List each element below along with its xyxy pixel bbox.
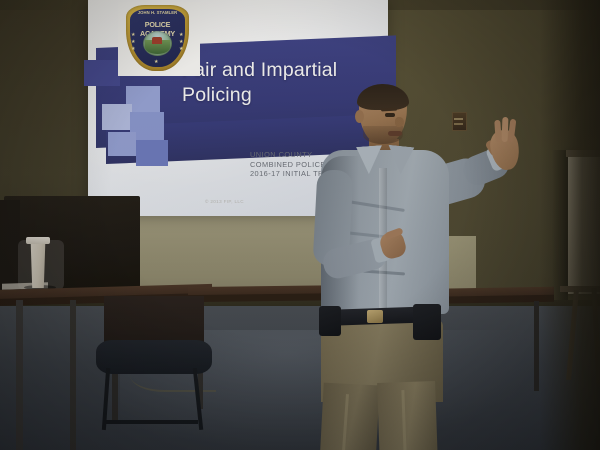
wall-right-falloff — [540, 0, 600, 450]
badge-top-text: JOHN H. STAMLER — [134, 11, 181, 20]
badge-star-icon: ★ — [131, 33, 135, 38]
belt-pouch-left — [319, 306, 341, 336]
chair-rail — [106, 420, 198, 424]
slide-copyright: © 2013 FIP, LLC — [205, 199, 244, 204]
slide-square-mid-2 — [108, 132, 136, 156]
right-finger — [494, 120, 502, 142]
belt-buckle — [367, 310, 383, 323]
mouth — [388, 131, 402, 136]
leg-right — [377, 381, 439, 450]
photo-scene: Fair and Impartial Policing UNION COUNTY… — [0, 0, 600, 450]
badge-star-icon: ★ — [179, 40, 183, 45]
badge-star-icon: ★ — [154, 60, 158, 65]
badge-star-icon: ★ — [131, 47, 135, 52]
leg-left — [318, 383, 379, 450]
ear — [355, 110, 364, 123]
hair — [357, 84, 409, 110]
badge-seal-building — [152, 37, 162, 44]
slide-square-dark — [84, 60, 120, 86]
badge-main-text: POLICE ACADEMY — [131, 20, 184, 29]
badge-star-icon: ★ — [131, 40, 135, 45]
slide-square-mid-3 — [136, 140, 168, 166]
eye — [385, 113, 395, 117]
table-left-leg — [70, 300, 76, 450]
slide-square-light-2 — [102, 104, 132, 130]
belt-pouch-right — [413, 304, 441, 340]
nose — [395, 117, 404, 127]
badge-star-icon: ★ — [179, 33, 183, 38]
monitor-secondary — [0, 200, 20, 292]
table-right-leg — [534, 301, 539, 391]
table-left-leg — [16, 300, 23, 450]
coffee-cup-lid — [26, 237, 50, 244]
badge-star-icon: ★ — [179, 47, 183, 52]
slide-title-line1: Fair and Impartial — [182, 58, 372, 83]
instructor-figure — [295, 84, 525, 450]
